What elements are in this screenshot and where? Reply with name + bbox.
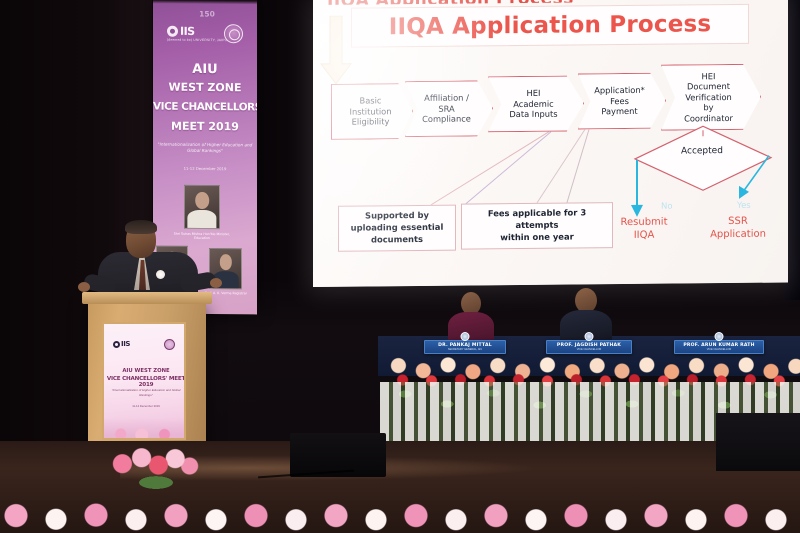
step-line: Compliance (422, 114, 471, 125)
step-line: by (684, 102, 733, 113)
floor-bouquet (96, 443, 216, 489)
portrait-head (219, 255, 231, 271)
svg-text:150: 150 (199, 9, 215, 18)
outcome-ssr: SSR Application (695, 216, 781, 242)
process-step-3: HEI Academic Data Inputs (488, 75, 584, 132)
nameplate-role: VICE CHANCELLOR (707, 348, 732, 351)
step-line: Fees (594, 96, 645, 107)
outcome-line: IIQA (609, 229, 679, 242)
step-line: Affiliation / (422, 93, 471, 104)
process-step-1: Basic Institution Eligibility (331, 83, 413, 140)
note-line: uploading essential (351, 222, 444, 235)
diamond-shape (633, 124, 773, 195)
iis-logo-text: IIS (180, 25, 195, 38)
page-title: IIQA Application Process (389, 11, 712, 40)
iis-logo-subtext: (deemed to be) UNIVERSITY, JAIPUR (167, 38, 230, 43)
stage-front-flower-line (0, 487, 800, 533)
aiu-seal-icon (224, 24, 243, 43)
step-line: Data Inputs (509, 109, 557, 120)
banner-logo-row: IIS (deemed to be) UNIVERSITY, JAIPUR (161, 22, 249, 51)
banner-date: 11-12 December 2019 (153, 166, 257, 172)
podium-poster: IIS AIU WEST ZONE VICE CHANCELLORS' MEET… (102, 322, 186, 440)
outcome-resubmit: Resubmit IIQA (609, 216, 679, 242)
podium-poster-subtitle: "Internationalization of Higher Educatio… (109, 388, 183, 397)
down-arrow-icon (319, 16, 353, 88)
speaker-left-hand (78, 282, 90, 292)
podium-poster-line-1: AIU WEST ZONE (104, 368, 186, 374)
banner-line-2: WEST ZONE (153, 81, 257, 95)
step-line: HEI (684, 71, 733, 82)
portrait-head (195, 192, 209, 209)
nameplate-badge-icon (715, 332, 724, 341)
iis-mark-icon (113, 341, 120, 348)
decision-label: Accepted (681, 146, 723, 156)
step-line: Eligibility (350, 116, 392, 127)
speaker-right-hand (210, 278, 222, 288)
step-line: SRA (422, 103, 471, 114)
process-step-4: Application* Fees Payment (578, 73, 666, 130)
stage-monitor-right (716, 413, 800, 471)
decision-no-label: No (661, 202, 673, 212)
nameplate-role: VICE CHANCELLOR (577, 348, 602, 351)
podium-iis-logo-text: IIS (121, 340, 130, 348)
note-line: within one year (468, 231, 606, 244)
slide-title-box: IIQA Application Process (351, 4, 749, 48)
banner-line-1: AIU (153, 62, 257, 78)
podium-iis-logo: IIS (113, 340, 130, 348)
note-line: documents (351, 234, 444, 247)
podium-poster-line-2: VICE CHANCELLORS' MEET 2019 (104, 376, 186, 388)
step-line: Payment (594, 106, 645, 117)
anniversary-150-icon: 150 (197, 7, 217, 20)
dignitary-1 (448, 292, 494, 344)
outcome-line: Application (695, 228, 781, 241)
speaker-hair (125, 220, 157, 234)
podium-poster-flowers (104, 418, 186, 438)
note-line: Supported by (351, 210, 444, 223)
podium-poster-date: 11-12 December 2019 (104, 404, 186, 408)
note-line: Fees applicable for 3 attempts (468, 208, 606, 233)
decision-yes-label: Yes (737, 201, 751, 211)
step-line: HEI (509, 88, 557, 99)
iis-logo: IIS (167, 25, 195, 38)
outcome-line: Resubmit (609, 216, 679, 229)
step-line: Document (684, 81, 733, 92)
conference-hall-scene: IIQA Application Process IIQA Applicatio… (0, 0, 800, 533)
note-box-2: Fees applicable for 3 attempts within on… (461, 202, 613, 249)
iis-mark-icon (167, 26, 178, 37)
banner-line-3: VICE CHANCELLORS' (153, 101, 257, 114)
banner-subtitle: "Internationalization of Higher Educatio… (157, 142, 253, 155)
step-line: Verification (684, 92, 733, 103)
step-line: Basic (350, 96, 392, 107)
banner-line-4: MEET 2019 (153, 120, 257, 134)
process-step-2: Affiliation / SRA Compliance (405, 80, 493, 137)
speaker-lapel-flower (156, 270, 165, 279)
step-line: Academic (509, 98, 557, 109)
podium-top-surface (82, 292, 212, 304)
aiu-seal-icon (164, 339, 175, 350)
nameplate-role: SECRETARY GENERAL, AIU (448, 348, 482, 351)
slide-surface: IIQA Application Process IIQA Applicatio… (313, 0, 788, 287)
projection-screen: IIQA Application Process IIQA Applicatio… (313, 0, 788, 287)
note-box-1: Supported by uploading essential documen… (338, 205, 456, 252)
step-line: Institution (350, 106, 392, 117)
banner-top-edge (153, 0, 257, 4)
slide-clipped-heading: IIQA Application Process (327, 0, 657, 5)
nameplate-badge-icon (585, 332, 594, 341)
step-line: Coordinator (684, 113, 733, 124)
decision-diamond: Accepted (633, 124, 773, 200)
step-line: Application* (594, 85, 645, 96)
nameplate-badge-icon (461, 332, 470, 341)
outcome-line: SSR (695, 216, 781, 229)
process-step-5: HEI Document Verification by Coordinator (661, 64, 761, 131)
